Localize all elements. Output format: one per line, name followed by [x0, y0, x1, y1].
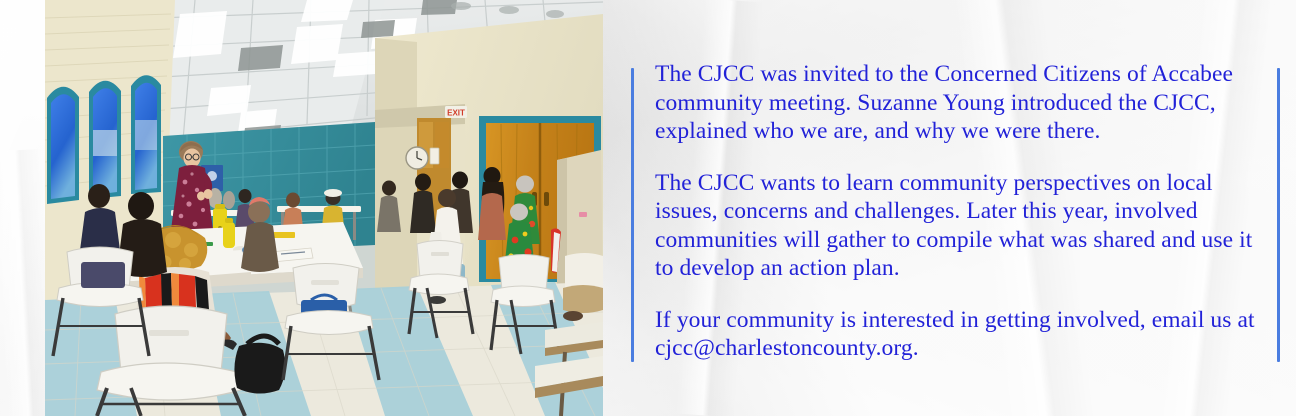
svg-text:EXIT: EXIT	[447, 109, 465, 118]
right-accent-rule	[1277, 68, 1280, 362]
paragraph-contact: If your community is interested in getti…	[655, 306, 1263, 363]
body-copy: The CJCC was invited to the Concerned Ci…	[655, 60, 1263, 363]
slide-root: EXIT	[0, 0, 1296, 416]
photo-illustration: EXIT	[45, 0, 603, 416]
meeting-photograph: EXIT	[45, 0, 603, 416]
left-accent-rule	[631, 68, 634, 362]
paragraph-intro: The CJCC was invited to the Concerned Ci…	[655, 60, 1263, 146]
text-panel: The CJCC was invited to the Concerned Ci…	[631, 60, 1281, 370]
paragraph-purpose: The CJCC wants to learn community perspe…	[655, 169, 1263, 283]
